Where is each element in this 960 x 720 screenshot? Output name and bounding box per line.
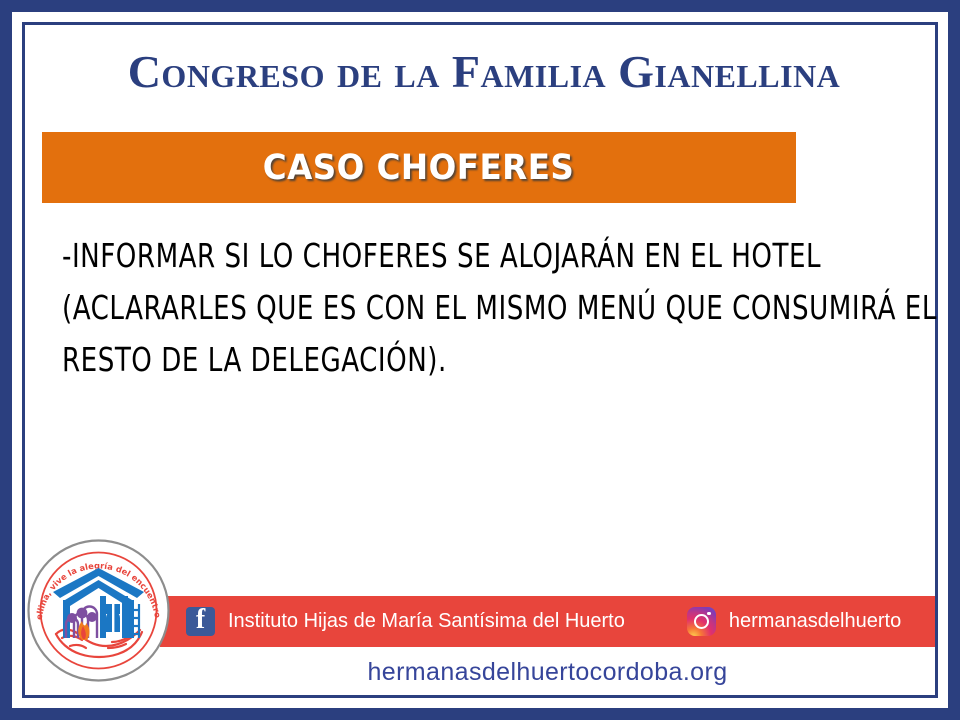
facebook-link[interactable]: Instituto Hijas de María Santísima del H… xyxy=(186,607,625,636)
instagram-label: hermanasdelhuerto xyxy=(729,610,901,633)
section-banner: CASO CHOFERES xyxy=(42,132,796,203)
facebook-label: Instituto Hijas de María Santísima del H… xyxy=(228,610,625,633)
section-banner-title: CASO CHOFERES xyxy=(263,148,575,188)
page-title: Congreso de la Familia Gianellina xyxy=(44,46,924,98)
familia-gianellina-emblem: Familia Gianellina, vive la alegría del … xyxy=(26,538,171,683)
instagram-link[interactable]: hermanasdelhuerto xyxy=(687,607,901,636)
slide-canvas: Congreso de la Familia Gianellina CASO C… xyxy=(0,0,960,720)
body-text-line: (ACLARARLES QUE ES CON EL MISMO MENÚ QUE… xyxy=(62,282,792,334)
website-url[interactable]: hermanasdelhuertocordoba.org xyxy=(160,658,935,687)
instagram-icon xyxy=(687,607,716,636)
body-text-line: -INFORMAR SI LO CHOFERES SE ALOJARÁN EN … xyxy=(62,230,792,282)
body-text-block: -INFORMAR SI LO CHOFERES SE ALOJARÁN EN … xyxy=(62,230,892,386)
footer-social-bar: Instituto Hijas de María Santísima del H… xyxy=(160,596,935,647)
facebook-icon xyxy=(186,607,215,636)
body-text-line: RESTO DE LA DELEGACIÓN). xyxy=(62,334,792,386)
footer-social-row: Instituto Hijas de María Santísima del H… xyxy=(160,596,935,647)
